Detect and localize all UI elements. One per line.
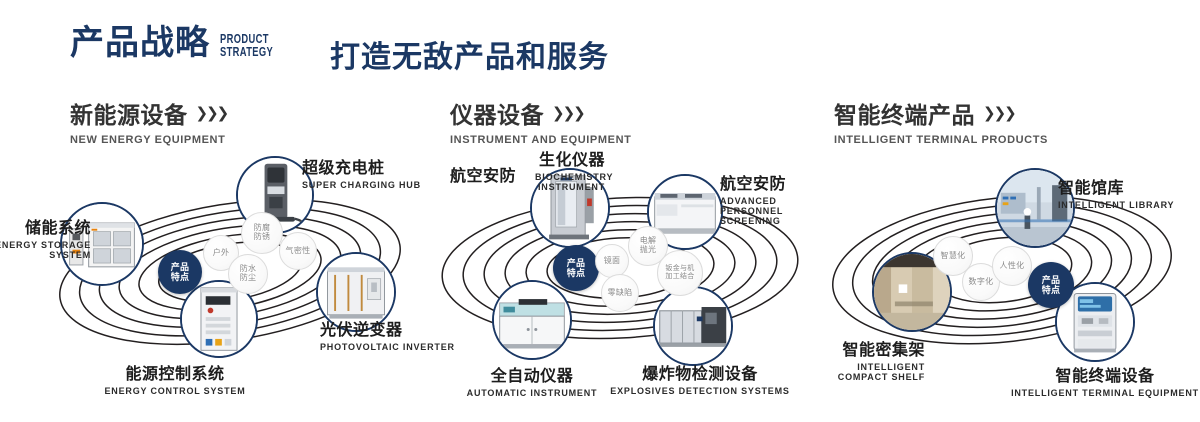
page-title-en-line2: STRATEGY xyxy=(220,45,273,58)
feature-airtightness[interactable]: 气密性 xyxy=(279,232,317,270)
page-title: 产品战略 xyxy=(70,26,210,60)
feature-label: 防水防尘 xyxy=(239,265,257,282)
label-intelligent-compact-shelf: 智能密集架 INTELLIGENT COMPACT SHELF xyxy=(745,336,925,382)
feature-center-product-characteristics[interactable]: 产品特点 xyxy=(553,245,599,291)
page-title-en: PRODUCT STRATEGY xyxy=(220,32,273,58)
label-en: ENERGY STORAGE SYSTEM xyxy=(0,240,91,260)
label-cn: 能源控制系统 xyxy=(85,360,265,384)
label-en: ENERGY CONTROL SYSTEM xyxy=(85,386,265,396)
label-cn: 储能系统 xyxy=(0,214,91,238)
section-title-cn: 仪器设备 xyxy=(450,96,544,130)
explosives-detection-systems-image xyxy=(655,288,731,364)
feature-label: 产品特点 xyxy=(167,262,193,283)
product-strategy-infographic: 产品战略 PRODUCT STRATEGY 打造无敌产品和服务 新能源设备❯❯❯… xyxy=(0,0,1200,422)
feature-label: 数字化 xyxy=(966,278,996,287)
label-en: AUTOMATIC INSTRUMENT xyxy=(440,388,624,398)
section-title-en: NEW ENERGY EQUIPMENT xyxy=(70,134,227,146)
feature-sheet-metal-machining[interactable]: 钣金与机加工结合 xyxy=(657,250,703,296)
feature-label: 产品特点 xyxy=(1038,275,1064,296)
feature-mirror-surface[interactable]: 镜面 xyxy=(595,244,629,278)
section-title-intelligent-terminal: 智能终端产品❯❯❯ INTELLIGENT TERMINAL PRODUCTS xyxy=(834,96,1048,146)
section-title-instrument: 仪器设备❯❯❯ INSTRUMENT AND EQUIPMENT xyxy=(450,96,631,146)
label-en: INTELLIGENT COMPACT SHELF xyxy=(817,362,925,382)
diagram-new-energy: 储能系统 ENERGY STORAGE SYSTEM 超级充电桩 SUPER C… xyxy=(30,150,430,380)
page-header: 产品战略 PRODUCT STRATEGY xyxy=(70,26,294,60)
label-cn: 生化仪器 xyxy=(440,146,605,170)
feature-label: 智慧化 xyxy=(938,252,968,261)
label-cn: 航空安防 xyxy=(720,170,812,194)
chevron-right-icons: ❯❯❯ xyxy=(983,104,1015,122)
label-advanced-personnel-screening: 航空安防 ADVANCED PERSONNEL SCREENING xyxy=(720,170,812,226)
section-title-en: INSTRUMENT AND EQUIPMENT xyxy=(450,134,631,146)
label-intelligent-terminal-equipment: 智能终端设备 INTELLIGENT TERMINAL EQUIPMENT xyxy=(1010,362,1200,398)
automatic-instrument-image xyxy=(494,282,570,358)
chevron-right-icons: ❯❯❯ xyxy=(196,104,228,122)
feature-zero-defect[interactable]: 零缺陷 xyxy=(601,274,639,312)
label-biochemistry-instrument: 生化仪器 BIOCHEMISTRY INSTRUMENT xyxy=(440,146,605,192)
label-energy-control-system: 能源控制系统 ENERGY CONTROL SYSTEM xyxy=(85,360,265,396)
section-title-cn: 新能源设备 xyxy=(70,96,188,130)
label-cn: 智能馆库 xyxy=(1058,174,1174,198)
label-cn: 智能密集架 xyxy=(745,336,925,360)
node-explosives-detection-systems[interactable] xyxy=(653,286,733,366)
feature-center-product-characteristics[interactable]: 产品特点 xyxy=(158,250,202,294)
label-en: BIOCHEMISTRY INSTRUMENT xyxy=(535,172,605,192)
label-en: INTELLIGENT TERMINAL EQUIPMENT xyxy=(1010,388,1200,398)
feature-label: 零缺陷 xyxy=(607,289,633,298)
feature-label: 钣金与机加工结合 xyxy=(663,265,697,280)
feature-label: 人性化 xyxy=(997,262,1027,271)
section-title-new-energy: 新能源设备❯❯❯ NEW ENERGY EQUIPMENT xyxy=(70,96,227,146)
label-intelligent-library: 智能馆库 INTELLIGENT LIBRARY xyxy=(1058,174,1174,210)
label-cn: 超级充电桩 xyxy=(302,154,421,178)
label-en: ADVANCED PERSONNEL SCREENING xyxy=(720,196,812,226)
feature-center-product-characteristics[interactable]: 产品特点 xyxy=(1028,262,1074,308)
feature-waterproof-dustproof[interactable]: 防水防尘 xyxy=(228,254,268,294)
label-en: EXPLOSIVES DETECTION SYSTEMS xyxy=(605,386,795,396)
feature-label: 产品特点 xyxy=(563,258,589,279)
label-en: INTELLIGENT LIBRARY xyxy=(1058,200,1174,210)
label-en: SUPER CHARGING HUB xyxy=(302,180,421,190)
label-automatic-instrument: 全自动仪器 AUTOMATIC INSTRUMENT xyxy=(440,362,624,398)
label-cn: 智能终端设备 xyxy=(1010,362,1200,386)
feature-anti-corrosion[interactable]: 防腐防锈 xyxy=(241,212,283,254)
chevron-right-icons: ❯❯❯ xyxy=(552,104,584,122)
section-title-cn: 智能终端产品 xyxy=(834,96,975,130)
node-automatic-instrument[interactable] xyxy=(492,280,572,360)
feature-humanization[interactable]: 人性化 xyxy=(992,246,1032,286)
feature-label: 防腐防锈 xyxy=(252,224,272,241)
label-energy-storage-system: 储能系统 ENERGY STORAGE SYSTEM xyxy=(0,214,91,260)
feature-label: 镜面 xyxy=(604,257,621,266)
feature-label: 气密性 xyxy=(285,247,311,256)
label-cn: 全自动仪器 xyxy=(440,362,624,386)
feature-label: 户外 xyxy=(213,249,230,258)
section-title-en: INTELLIGENT TERMINAL PRODUCTS xyxy=(834,134,1048,146)
feature-label: 电解抛光 xyxy=(639,237,657,254)
page-subtitle: 打造无敌产品和服务 xyxy=(330,32,609,76)
diagram-intelligent-terminal: 智能馆库 INTELLIGENT LIBRARY 智能密集架 INTELLIGE… xyxy=(810,150,1200,380)
label-super-charging-hub: 超级充电桩 SUPER CHARGING HUB xyxy=(302,154,421,190)
